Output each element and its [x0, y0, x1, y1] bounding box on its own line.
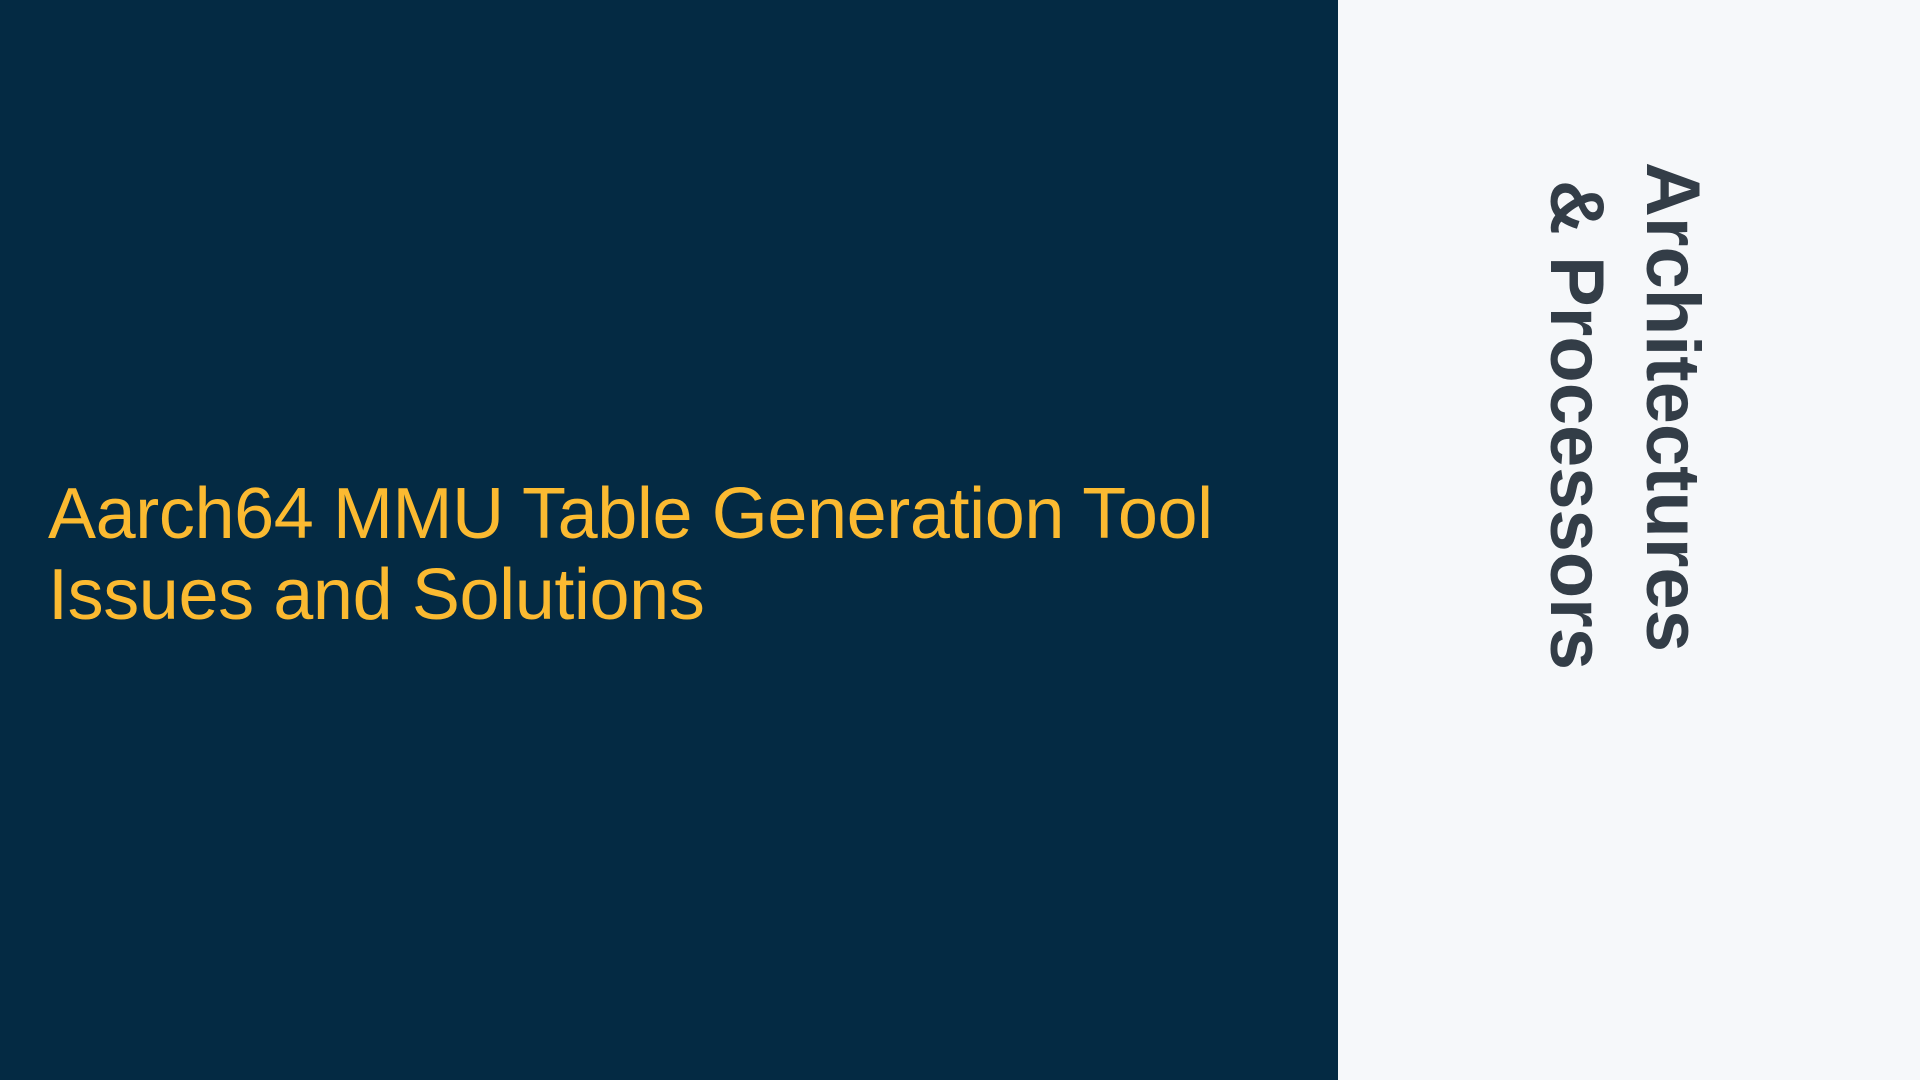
sidebar-label-architectures: Architectures: [1634, 162, 1710, 652]
page-title: Aarch64 MMU Table Generation Tool Issues…: [48, 474, 1328, 635]
sidebar-label-processors: & Processors: [1538, 180, 1614, 670]
title-block: Aarch64 MMU Table Generation Tool Issues…: [48, 474, 1328, 635]
sidebar-branding-panel: Architectures & Processors: [1338, 0, 1920, 1080]
title-panel: Aarch64 MMU Table Generation Tool Issues…: [0, 0, 1338, 1080]
presentation-slide: Aarch64 MMU Table Generation Tool Issues…: [0, 0, 1920, 1080]
